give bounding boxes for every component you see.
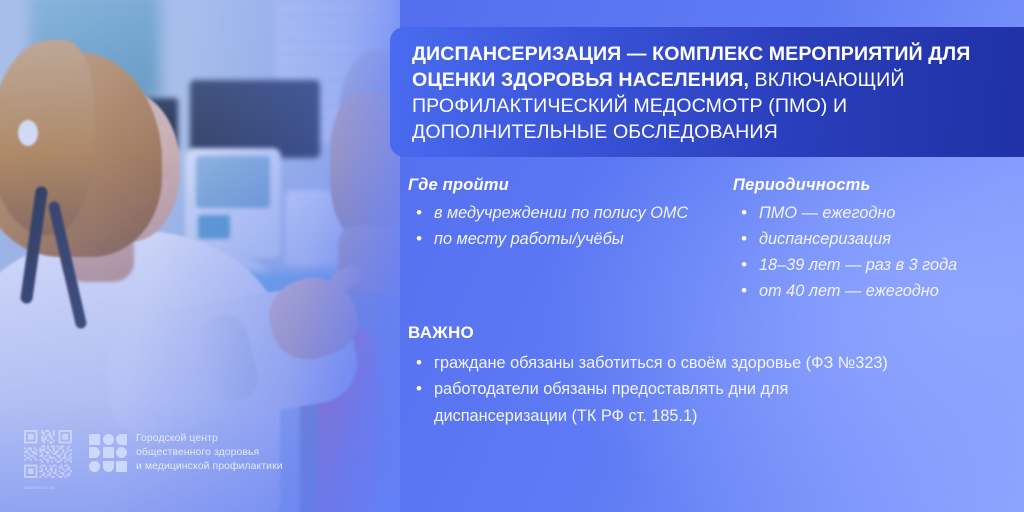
list-item: от 40 лет — ежегодно	[733, 280, 1018, 303]
logo-shape-circle	[103, 434, 114, 445]
org-line-1: Городской центр	[136, 432, 283, 446]
org-line-3: и медицинской профилактики	[136, 460, 283, 474]
list-item: ПМО — ежегодно	[733, 202, 1018, 225]
section-frequency-heading: Периодичность	[733, 176, 1018, 195]
list-item: граждане обязаны заботиться о своём здор…	[408, 350, 913, 376]
logo-shape-pac-right	[89, 447, 100, 458]
logo-shape-circle	[116, 447, 127, 458]
logo-shape-square	[89, 434, 100, 445]
section-frequency-list: ПМО — ежегодно диспансеризация 18–39 лет…	[733, 202, 1018, 304]
header-banner: ДИСПАНСЕРИЗАЦИЯ — КОМПЛЕКС МЕРОПРИЯТИЙ Д…	[390, 27, 1024, 157]
logo-shape-square	[116, 461, 127, 472]
list-item: в медучреждении по полису ОМС	[408, 202, 708, 225]
qr-code-icon[interactable]	[24, 430, 72, 478]
logo-shape-pac-left	[116, 434, 127, 445]
list-item: по месту работы/учёбы	[408, 228, 708, 251]
org-line-2: общественного здоровья	[136, 446, 283, 460]
organization-name: Городской центр общественного здоровья и…	[136, 432, 283, 474]
logo-shape-pac-down	[103, 461, 114, 472]
section-where-heading: Где пройти	[408, 176, 708, 195]
list-item: диспансеризация	[733, 228, 1018, 251]
logo-shape-square	[103, 447, 114, 458]
section-where-list: в медучреждении по полису ОМС по месту р…	[408, 202, 708, 251]
section-important: ВАЖНО граждане обязаны заботиться о своё…	[408, 323, 913, 429]
organization-logo: Городской центр общественного здоровья и…	[89, 432, 283, 474]
section-important-heading: ВАЖНО	[408, 323, 913, 343]
footer-branding: takzdorovo.ru Городской центр общественн…	[24, 430, 283, 490]
page-title: ДИСПАНСЕРИЗАЦИЯ — КОМПЛЕКС МЕРОПРИЯТИЙ Д…	[412, 41, 998, 145]
logo-shape-grid	[89, 434, 127, 472]
section-where: Где пройти в медучреждении по полису ОМС…	[408, 176, 708, 254]
list-item: работодатели обязаны предоставлять дни д…	[408, 376, 913, 429]
qr-code-label: takzdorovo.ru	[24, 485, 72, 490]
section-frequency: Периодичность ПМО — ежегодно диспансериз…	[733, 176, 1018, 307]
qr-code-block[interactable]: takzdorovo.ru	[24, 430, 72, 490]
logo-shape-circle	[89, 461, 100, 472]
section-important-list: граждане обязаны заботиться о своём здор…	[408, 350, 913, 429]
list-item: 18–39 лет — раз в 3 года	[733, 254, 1018, 277]
